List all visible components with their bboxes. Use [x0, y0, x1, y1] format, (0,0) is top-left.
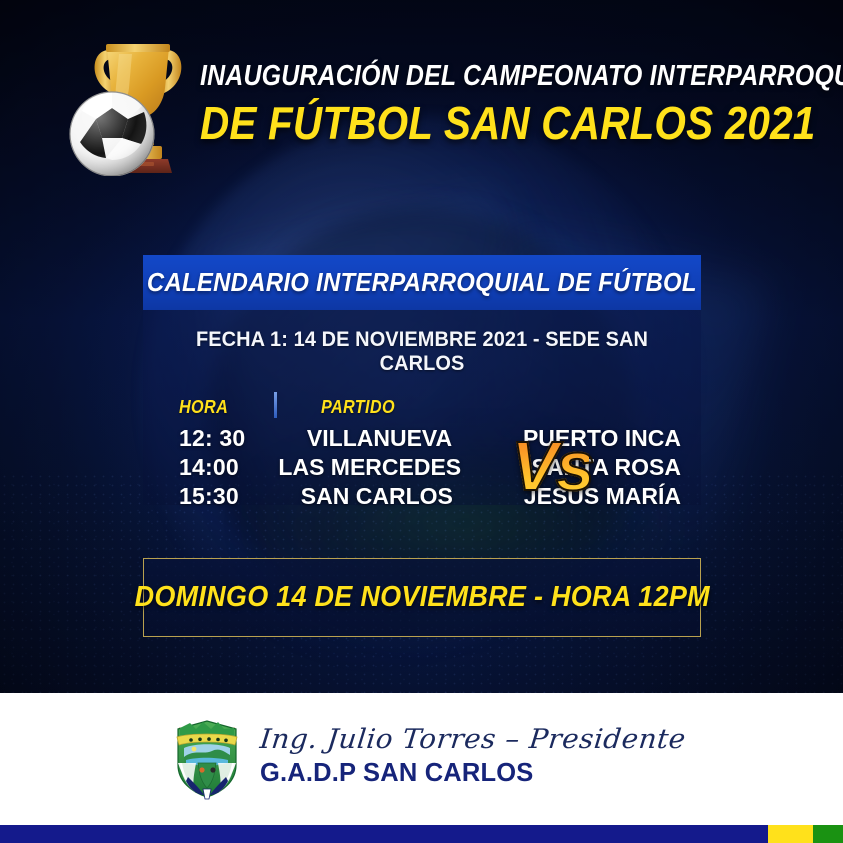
- match-home-team: VILLANUEVA: [279, 425, 460, 452]
- poster-root: INAUGURACIÓN DEL CAMPEONATO INTERPARROQU…: [0, 0, 843, 843]
- match-table-body: 12: 30 VILLANUEVA PUERTO INCA 14:00 LAS …: [179, 424, 681, 511]
- match-table-header-row: HORA PARTIDO: [179, 392, 681, 418]
- table-row: 14:00 LAS MERCEDES SANTA ROSA: [179, 453, 681, 482]
- footer-text-block: Ing. Julio Torres – Presidente G.A.D.P S…: [260, 726, 673, 787]
- signature-text: Ing. Julio Torres – Presidente: [258, 726, 687, 754]
- footer: Ing. Julio Torres – Presidente G.A.D.P S…: [0, 693, 843, 825]
- match-home-team: SAN CARLOS: [279, 483, 461, 510]
- match-time: 12: 30: [179, 425, 279, 452]
- header-title-block: INAUGURACIÓN DEL CAMPEONATO INTERPARROQU…: [200, 62, 825, 147]
- trophy-icon: [62, 26, 214, 176]
- bottom-color-stripe: [0, 825, 843, 843]
- soccer-ball-icon: [70, 92, 154, 176]
- table-row: 12: 30 VILLANUEVA PUERTO INCA: [179, 424, 681, 453]
- stripe-segment-navy: [0, 825, 768, 843]
- event-banner-text: DOMINGO 14 DE NOVIEMBRE - HORA 12PM: [134, 581, 709, 614]
- vs-graphic: Vs: [515, 420, 589, 512]
- column-divider: [274, 392, 277, 418]
- header: INAUGURACIÓN DEL CAMPEONATO INTERPARROQU…: [0, 0, 843, 190]
- column-header-time: HORA: [179, 397, 285, 418]
- schedule-heading: CALENDARIO INTERPARROQUIAL DE FÚTBOL: [147, 267, 697, 298]
- match-time: 15:30: [179, 483, 279, 510]
- coat-of-arms-icon: [170, 713, 244, 801]
- column-header-match: PARTIDO: [321, 397, 395, 418]
- schedule-subheading: FECHA 1: 14 DE NOVIEMBRE 2021 - SEDE SAN…: [157, 328, 687, 376]
- match-time: 14:00: [179, 454, 278, 481]
- match-table: HORA PARTIDO 12: 30 VILLANUEVA PUERTO IN…: [143, 392, 701, 511]
- table-row: 15:30 SAN CARLOS JESÚS MARÍA: [179, 482, 681, 511]
- schedule-panel-header: CALENDARIO INTERPARROQUIAL DE FÚTBOL: [143, 255, 701, 310]
- trophy-ball-graphic: [62, 26, 214, 176]
- stripe-segment-yellow: [768, 825, 813, 843]
- title-line-2: DE FÚTBOL SAN CARLOS 2021: [200, 99, 750, 147]
- event-banner: DOMINGO 14 DE NOVIEMBRE - HORA 12PM: [143, 558, 701, 637]
- stripe-segment-green: [813, 825, 843, 843]
- schedule-panel: CALENDARIO INTERPARROQUIAL DE FÚTBOL FEC…: [143, 255, 701, 505]
- organization-name: G.A.D.P SAN CARLOS: [260, 757, 665, 788]
- title-line-1: INAUGURACIÓN DEL CAMPEONATO INTERPARROQU…: [200, 62, 738, 91]
- match-home-team: LAS MERCEDES: [278, 454, 469, 481]
- footer-content: Ing. Julio Torres – Presidente G.A.D.P S…: [170, 713, 673, 801]
